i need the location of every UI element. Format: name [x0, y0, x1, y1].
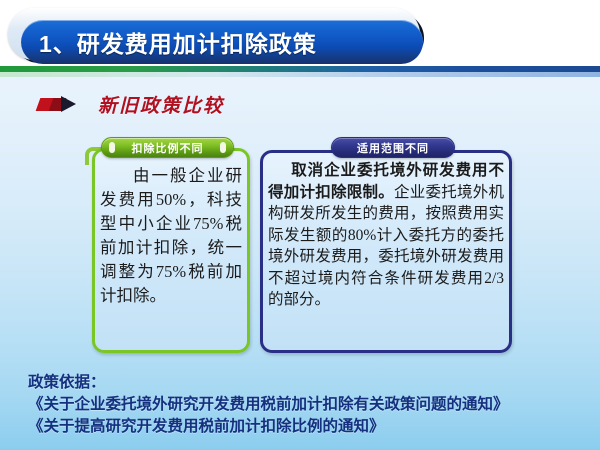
page-title: 1、研发费用加计扣除政策 — [21, 25, 317, 59]
policy-reference-item-2: 《关于提高研究开发费用税前加计扣除比例的通知》 — [28, 416, 588, 438]
divider-rule-secondary — [0, 72, 600, 77]
header-band: 1、研发费用加计扣除政策 — [0, 0, 600, 66]
comparison-tag-left: 扣除比例不同 — [101, 137, 234, 158]
comparison-card-right-body: 取消企业委托境外研发费用不得加计扣除限制。企业委托境外机构研发所发生的费用，按照… — [268, 160, 504, 311]
policy-references-label: 政策依据： — [28, 372, 588, 394]
title-pill: 1、研发费用加计扣除政策 — [21, 20, 423, 64]
section-heading: 新旧政策比较 — [38, 90, 224, 118]
policy-references: 政策依据： 《关于企业委托境外研究开发费用税前加计扣除有关政策问题的通知》 《关… — [28, 372, 588, 438]
comparison-tag-left-label: 扣除比例不同 — [132, 140, 204, 156]
policy-reference-item-1: 《关于企业委托境外研究开发费用税前加计扣除有关政策问题的通知》 — [28, 394, 588, 416]
comparison-card-left-body: 由一般企业研发费用50%，科技型中小企业75%税前加计扣除，统一调整为75%税前… — [100, 164, 242, 308]
red-arrow-icon — [38, 96, 84, 113]
tag-cap-left-icon — [109, 142, 115, 153]
tag-cap-right-icon — [220, 142, 226, 153]
comparison-card-right-rest: 企业委托境外机构研发所发生的费用，按照费用实际发生额的80%计入委托方的委托境外… — [268, 184, 504, 309]
comparison-tag-right-label: 适用范围不同 — [357, 140, 429, 156]
comparison-tag-right: 适用范围不同 — [331, 137, 455, 158]
title-pill-outer: 1、研发费用加计扣除政策 — [8, 8, 420, 60]
section-title-label: 新旧政策比较 — [98, 91, 224, 118]
slide-canvas: 1、研发费用加计扣除政策 新旧政策比较 由一般企业研发费用50%，科技型中小企业… — [0, 0, 600, 450]
